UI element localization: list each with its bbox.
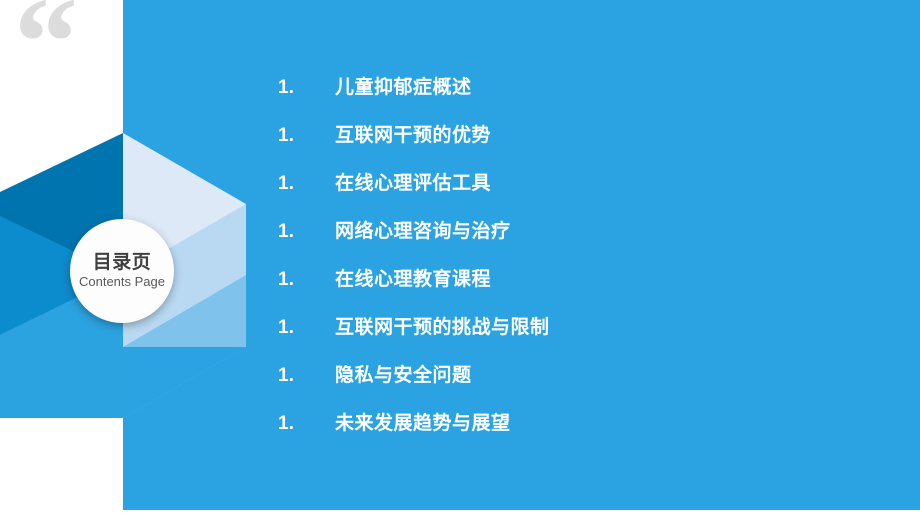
badge-subtitle: Contents Page: [79, 275, 165, 290]
list-item-number: 1.: [278, 222, 335, 241]
list-item-label: 未来发展趋势与展望: [335, 414, 511, 433]
contents-list: 1. 儿童抑郁症概述 1. 互联网干预的优势 1. 在线心理评估工具 1. 网络…: [278, 78, 878, 462]
list-item-number: 1.: [278, 366, 335, 385]
list-item[interactable]: 1. 互联网干预的优势: [278, 126, 878, 174]
slide-canvas: “ 目录页 Contents Page 1. 儿童抑郁症概述: [0, 0, 920, 518]
contents-badge: 目录页 Contents Page: [70, 219, 174, 323]
hex-face-bottom-right-lower: [123, 347, 246, 418]
list-item[interactable]: 1. 未来发展趋势与展望: [278, 414, 878, 462]
list-item-label: 网络心理咨询与治疗: [335, 222, 511, 241]
list-item-label: 互联网干预的优势: [335, 126, 491, 145]
list-item-number: 1.: [278, 126, 335, 145]
list-item-label: 互联网干预的挑战与限制: [335, 318, 550, 337]
list-item-number: 1.: [278, 78, 335, 97]
list-item-number: 1.: [278, 318, 335, 337]
list-item-number: 1.: [278, 270, 335, 289]
list-item-number: 1.: [278, 174, 335, 193]
list-item[interactable]: 1. 网络心理咨询与治疗: [278, 222, 878, 270]
list-item[interactable]: 1. 互联网干预的挑战与限制: [278, 318, 878, 366]
badge-title: 目录页: [93, 252, 152, 274]
list-item-number: 1.: [278, 414, 335, 433]
list-item-label: 在线心理教育课程: [335, 270, 491, 289]
list-item-label: 儿童抑郁症概述: [335, 78, 472, 97]
list-item-label: 隐私与安全问题: [335, 366, 472, 385]
list-item[interactable]: 1. 儿童抑郁症概述: [278, 78, 878, 126]
list-item[interactable]: 1. 在线心理教育课程: [278, 270, 878, 318]
list-item[interactable]: 1. 隐私与安全问题: [278, 366, 878, 414]
list-item-label: 在线心理评估工具: [335, 174, 491, 193]
list-item[interactable]: 1. 在线心理评估工具: [278, 174, 878, 222]
